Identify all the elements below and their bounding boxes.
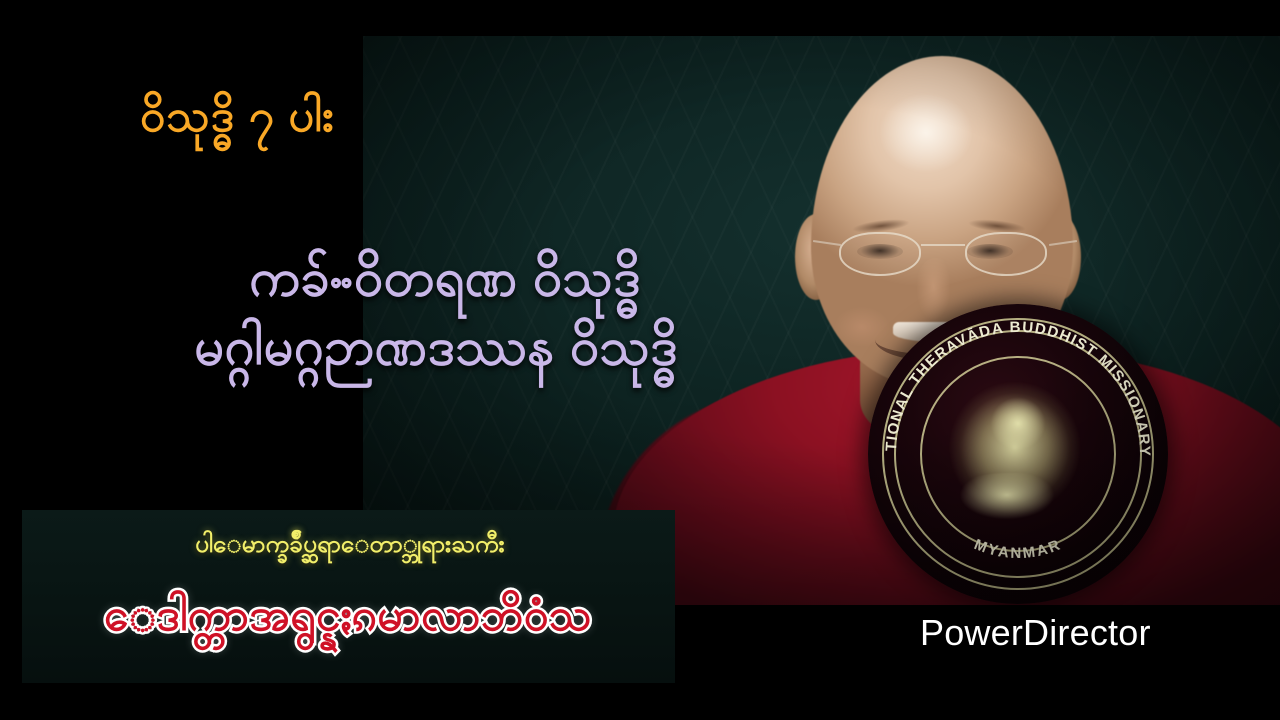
speaker-name: ေဒါက္တာအရွင္နႏၵမာလာဘိဝံသ <box>24 588 672 652</box>
video-thumbnail: THE INTERNATIONAL THERAVĀDA BUDDHIST MIS… <box>0 0 1280 720</box>
title-main: ကခ်ႌဝိတရဏ ဝိသုဒ္ဓိ မဂ္ဂါမဂ္ဂဉာဏဒဿန ဝိသုဒ… <box>56 244 816 381</box>
letterbox-top <box>0 0 1280 36</box>
title-overline: ဝိသုဒ္ဓိ ၇ ပါး <box>140 92 334 139</box>
title-line-1: ကခ်ႌဝိတရဏ ဝိသုဒ္ဓိ <box>56 244 816 313</box>
speaker-byline: ပါေမာက္ခခ်ဳပ္ဆရာေတာ္ဘုရားႀကီး <box>60 528 640 564</box>
powerdirector-watermark: PowerDirector <box>920 612 1151 654</box>
title-line-2: မဂ္ဂါမဂ္ဂဉာဏဒဿန ဝိသုဒ္ဓိ <box>56 313 816 382</box>
